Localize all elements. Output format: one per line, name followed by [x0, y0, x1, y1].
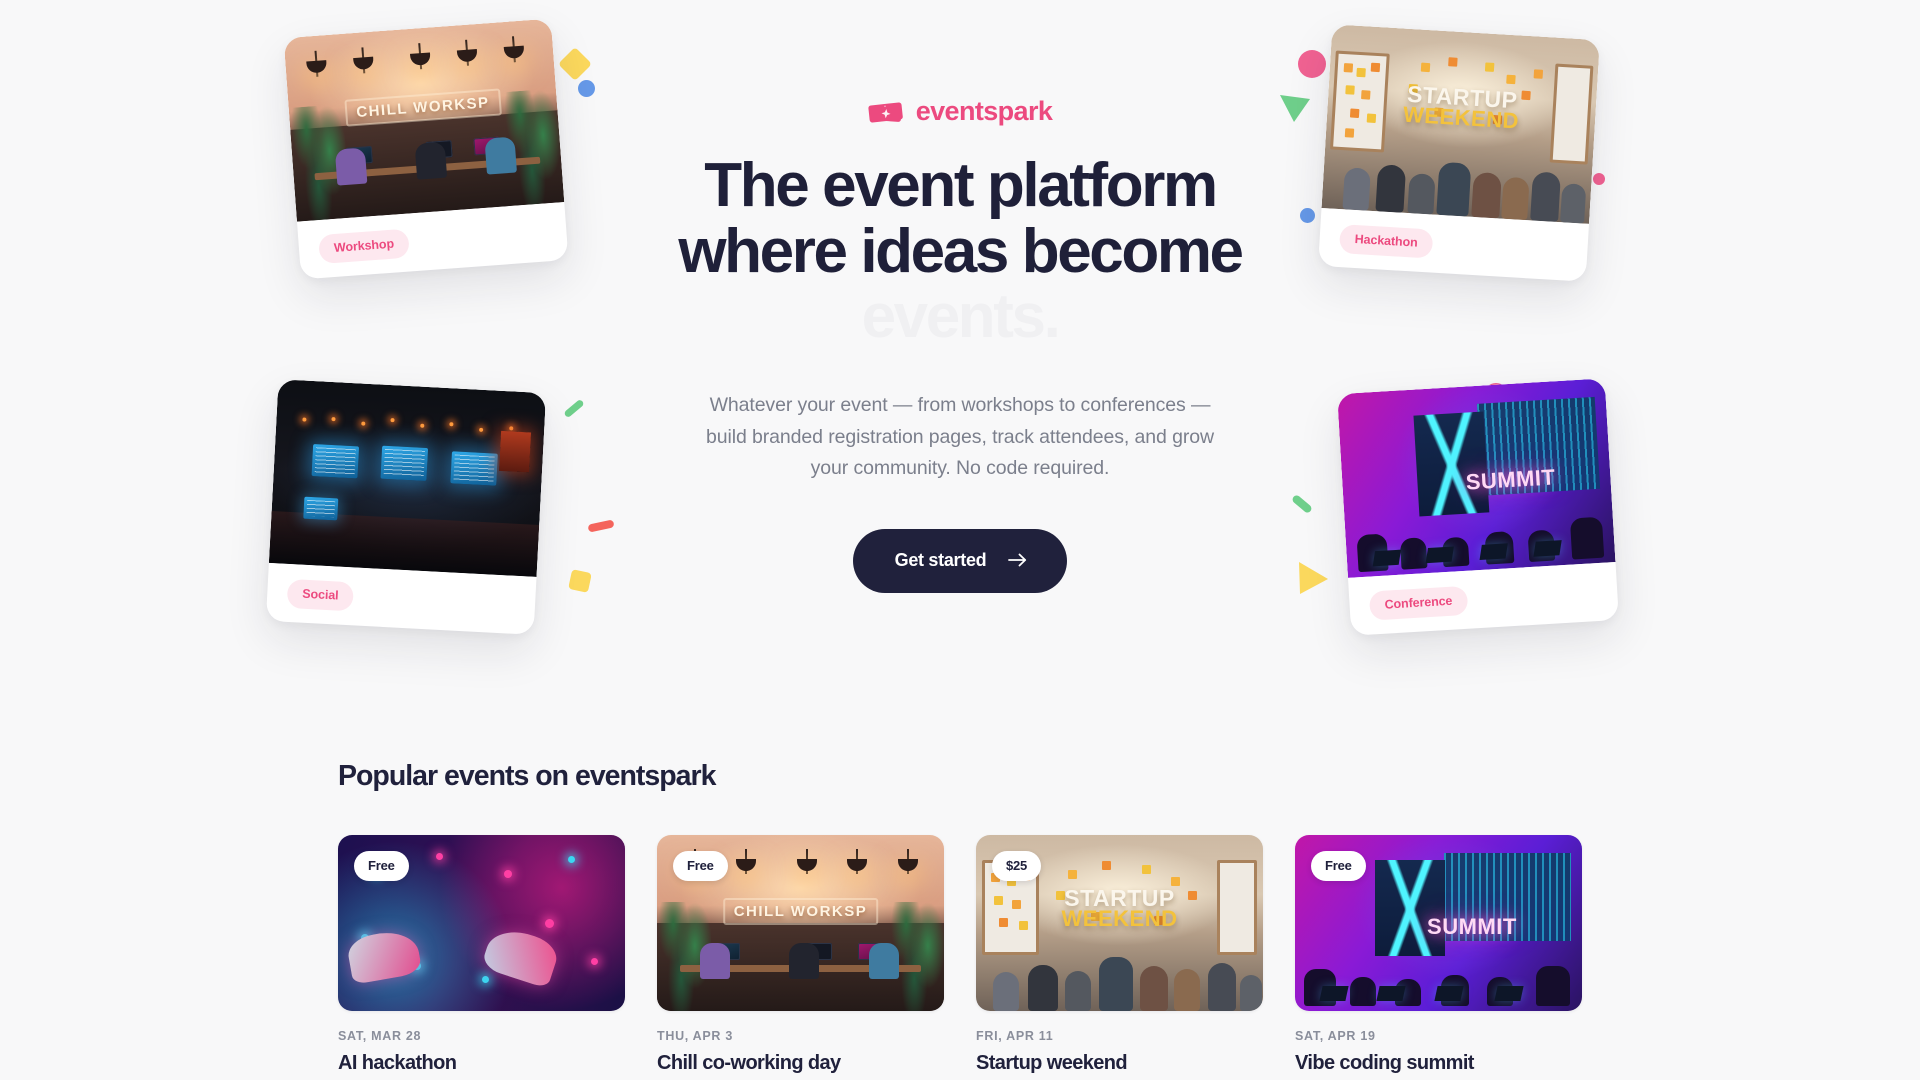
- wall-sign-text: CHILL WORKSP: [723, 898, 879, 925]
- arrow-right-icon: [1008, 553, 1027, 567]
- decor-pink-circle-right: [1298, 50, 1326, 78]
- event-card[interactable]: $25: [976, 835, 1263, 1076]
- hero-section: CHILL WORKSP Workshop: [0, 0, 1920, 700]
- price-badge: Free: [1311, 851, 1366, 881]
- section-title: Popular events on eventspark: [338, 760, 1582, 793]
- brand-name: eventspark: [916, 96, 1053, 127]
- event-card[interactable]: Free CHILL WORKSP: [657, 835, 944, 1076]
- robot-hand: [346, 928, 423, 985]
- human-hand: [481, 924, 562, 989]
- event-title: AI hackathon: [338, 1051, 625, 1076]
- popular-events-section: Popular events on eventspark Free: [0, 760, 1920, 1076]
- event-date: THU, APR 3: [657, 1029, 944, 1043]
- event-date: SAT, MAR 28: [338, 1029, 625, 1043]
- price-badge: $25: [992, 851, 1041, 881]
- event-thumbnail: Free SUMMIT: [1295, 835, 1582, 1011]
- headline-line-2: where ideas become: [678, 219, 1241, 285]
- hero-content: eventspark The event platform where idea…: [0, 96, 1920, 593]
- price-badge: Free: [673, 851, 728, 881]
- page-title: The event platform where ideas become ev…: [678, 153, 1241, 350]
- get-started-button[interactable]: Get started: [853, 529, 1068, 593]
- event-date: SAT, APR 19: [1295, 1029, 1582, 1043]
- event-thumbnail: $25: [976, 835, 1263, 1011]
- headline-line-3: events.: [678, 284, 1241, 350]
- event-card[interactable]: Free SUMMIT: [1295, 835, 1582, 1076]
- headline-line-1: The event platform: [678, 153, 1241, 219]
- events-grid: Free SAT, MAR 28: [338, 835, 1582, 1076]
- brand-lockup[interactable]: eventspark: [868, 96, 1053, 127]
- decor-blue-circle-top: [578, 80, 595, 97]
- landing-page: CHILL WORKSP Workshop: [0, 0, 1920, 1080]
- event-thumbnail: Free CHILL WORKSP: [657, 835, 944, 1011]
- hero-subheadline: Whatever your event — from workshops to …: [704, 390, 1216, 485]
- price-badge: Free: [354, 851, 409, 881]
- event-title: Startup weekend: [976, 1051, 1263, 1076]
- get-started-label: Get started: [895, 550, 987, 571]
- event-title: Chill co-working day: [657, 1051, 944, 1076]
- event-title: Vibe coding summit: [1295, 1051, 1582, 1076]
- event-card[interactable]: Free SAT, MAR 28: [338, 835, 625, 1076]
- ticket-icon: [868, 98, 904, 126]
- event-date: FRI, APR 11: [976, 1029, 1263, 1043]
- event-thumbnail: Free: [338, 835, 625, 1011]
- decor-yellow-diamond: [558, 47, 592, 81]
